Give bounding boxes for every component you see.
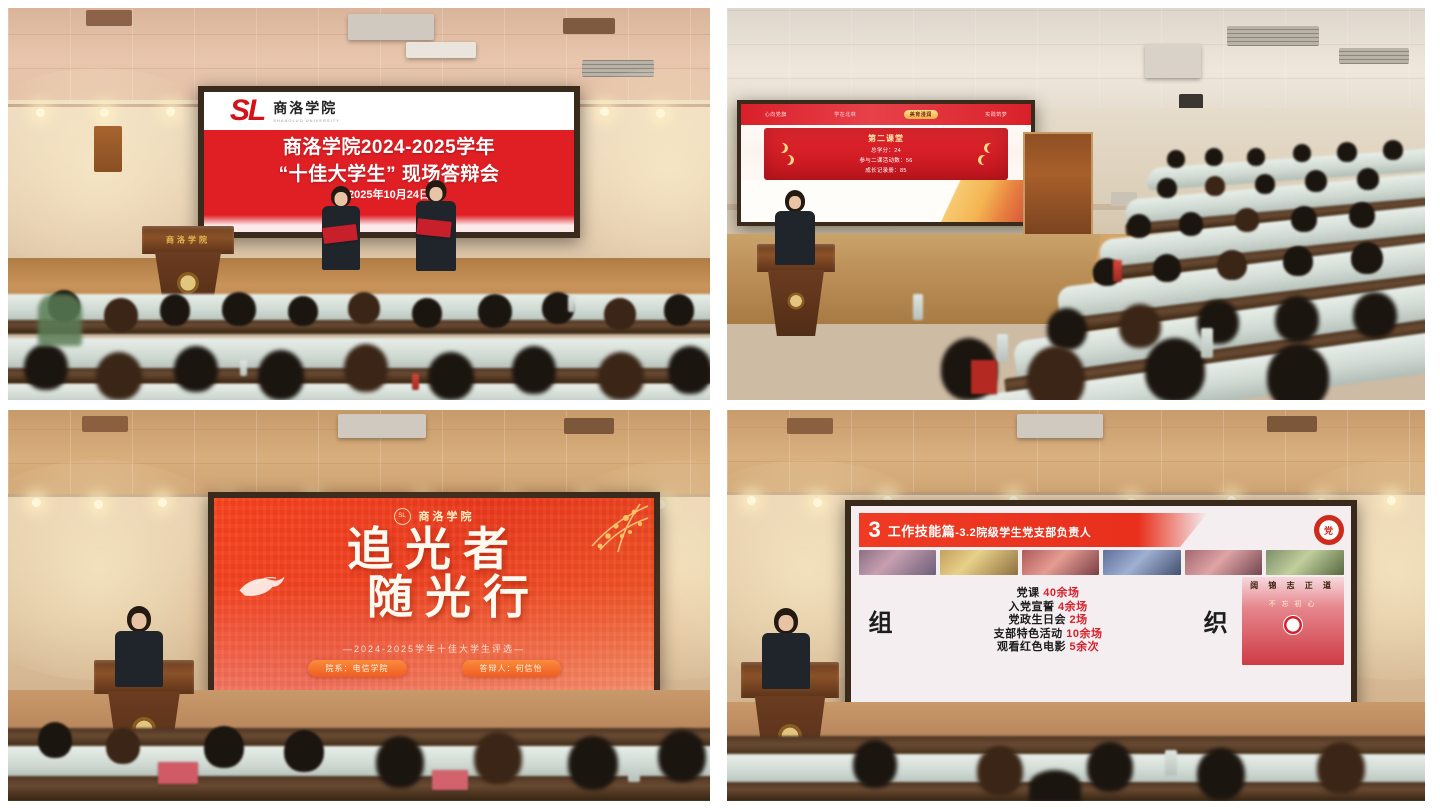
audience-head — [160, 294, 190, 326]
projector-1 — [348, 14, 434, 40]
speaker-at-podium — [771, 190, 819, 264]
led-screen-3: SL 商洛学院 追光者 随光行 —2024-2025学年十佳大学生评选— 院系：… — [208, 492, 660, 696]
audience-head — [1283, 246, 1313, 276]
audience-head — [598, 352, 644, 400]
decorative-fan — [921, 180, 1031, 222]
slide-header: SL 商洛学院 SHANGLUO UNIVERSITY — [204, 92, 574, 130]
stat-item-1: 入党宣誓 4余场 — [903, 601, 1194, 614]
badge-speaker: 答辩人：何信怡 — [462, 660, 561, 677]
nav-item-1: 学在北林 — [834, 111, 856, 118]
audience-head — [24, 344, 68, 390]
stat-label: 党课 — [1017, 587, 1040, 599]
card-line-1: 参与二课活动数：56 — [859, 156, 912, 164]
audience-head — [1087, 742, 1133, 792]
university-name-cn: 商洛学院 — [273, 100, 337, 116]
audience-head — [1293, 144, 1311, 162]
audience-head — [1153, 254, 1181, 282]
presenter-body — [762, 633, 810, 689]
stats-row: 组 党课 40余场 入党宣誓 4余场 党政生日会 2场 支部特色活动 10余场 … — [859, 577, 1344, 664]
speaker-right — [564, 418, 614, 434]
slide-subtitle: —2024-2025学年十佳大学生评选— — [214, 642, 654, 655]
ceiling-grid — [727, 8, 1425, 113]
audience-head — [1353, 292, 1397, 338]
panel-top-right: 心向党旗 学在北林 美育浸润 实践筑梦 第二课堂 总学分：24 参与二课活动数：… — [727, 8, 1425, 400]
stat-item-0: 党课 40余场 — [903, 587, 1194, 600]
stat-value: 40余场 — [1043, 587, 1079, 599]
ceiling — [727, 8, 1425, 113]
projector-2 — [406, 42, 476, 58]
university-name-en: SHANGLUO UNIVERSITY — [273, 118, 340, 123]
speaker-right — [1267, 416, 1317, 432]
audience-head — [38, 722, 72, 758]
podium-emblem-icon — [788, 293, 805, 310]
audience-head — [106, 728, 140, 764]
host-folder — [416, 218, 451, 237]
audience-head — [512, 346, 556, 394]
spot-light — [813, 498, 822, 507]
stat-value: 10余场 — [1066, 628, 1102, 640]
strip-photo — [1103, 550, 1181, 575]
audience-head — [1291, 206, 1317, 232]
side-banner-photo: 阔 锦 志 正 道 不 忘 初 心 — [1242, 577, 1344, 664]
hall-door — [1023, 132, 1093, 236]
audience-head — [1305, 170, 1327, 192]
card-title: 第二课堂 — [868, 133, 904, 144]
presenter-face — [779, 615, 794, 631]
water-bottle — [997, 334, 1008, 362]
section-title-text: 工作技能篇 — [888, 524, 956, 539]
water-bottle — [913, 294, 923, 320]
stat-value: 5余次 — [1070, 641, 1100, 653]
stat-item-4: 观看红色电影 5余次 — [903, 641, 1194, 654]
panel-bottom-right: 3 工作技能篇-3.2院级学生党支部负责人 党 — [727, 410, 1425, 801]
stat-label: 党政生日会 — [1008, 614, 1066, 626]
panel-bottom-left: SL 商洛学院 追光者 随光行 —2024-2025学年十佳大学生评选— 院系：… — [8, 410, 710, 801]
light-rail — [727, 492, 1425, 495]
audience-head — [412, 298, 442, 328]
university-name: 商洛学院 — [419, 508, 475, 524]
presenter-body — [115, 631, 163, 687]
audience-head — [258, 350, 304, 400]
audience-head — [853, 740, 897, 788]
host-face — [335, 192, 348, 206]
spot-light — [166, 107, 175, 116]
audience-head — [222, 292, 256, 326]
water-bottle — [628, 754, 640, 782]
audience-head — [1029, 770, 1081, 801]
nav-item-0: 心向党旗 — [765, 111, 787, 118]
audience-head — [344, 344, 388, 392]
badge-department: 院系：电信学院 — [308, 660, 407, 677]
strip-photo — [1022, 550, 1100, 575]
spot-light — [36, 108, 45, 117]
presenter-face — [132, 613, 147, 629]
slide-main-title: 追光者 随光行 — [214, 525, 654, 622]
podium-label: 商洛学院 — [142, 234, 234, 245]
speaker-left — [86, 10, 132, 26]
red-bag — [971, 360, 997, 394]
audience-head — [1205, 148, 1223, 166]
slide-date: 2025年10月24日 — [204, 186, 574, 202]
audience-head — [1205, 176, 1225, 196]
section-subtitle: -3.2院级学生党支部负责人 — [955, 527, 1091, 539]
strip-photo — [859, 550, 937, 575]
audience-head — [1337, 142, 1357, 162]
stat-label: 入党宣誓 — [1008, 601, 1054, 613]
projector — [338, 414, 426, 438]
audience-head — [1047, 308, 1087, 350]
stat-value: 4余场 — [1058, 601, 1088, 613]
speaker-right — [563, 18, 615, 34]
strip-photo — [1185, 550, 1263, 575]
audience-head — [668, 346, 710, 394]
spot-light — [158, 498, 167, 507]
red-folder — [158, 762, 198, 784]
audience-head — [1217, 250, 1247, 280]
wall-panel-left — [94, 126, 122, 172]
slide-section-header: 3 工作技能篇-3.2院级学生党支部负责人 党 — [859, 513, 1344, 548]
slide-title-line2: “十佳大学生” 现场答辩会 — [204, 162, 574, 188]
audience-head — [376, 736, 424, 788]
spot-light — [1387, 496, 1396, 505]
host-right — [412, 180, 460, 272]
host-face — [430, 187, 443, 201]
word-right: 织 — [1194, 603, 1238, 638]
audience-head — [428, 352, 474, 400]
card-line-2: 成长记录册：85 — [865, 166, 907, 174]
stat-item-3: 支部特色活动 10余场 — [903, 628, 1194, 641]
audience-head — [96, 352, 142, 400]
slide-badges: 院系：电信学院 答辩人：何信怡 — [214, 660, 654, 677]
audience-head — [1275, 296, 1319, 342]
audience-head — [474, 732, 522, 784]
nav-item-3: 实践筑梦 — [985, 111, 1007, 118]
spot-light — [32, 498, 41, 507]
audience-head — [1119, 304, 1161, 348]
presenter — [757, 608, 815, 686]
spot-light — [94, 500, 103, 509]
podium-emblem-icon — [177, 272, 199, 294]
audience-head — [284, 730, 324, 772]
audience-head — [658, 730, 706, 782]
speaker-left — [82, 416, 128, 432]
stat-item-2: 党政生日会 2场 — [903, 614, 1194, 627]
audience-head — [204, 726, 244, 768]
audience-head — [1357, 168, 1379, 190]
section-number: 3 — [869, 519, 881, 541]
audience-head — [1157, 178, 1177, 198]
red-folder — [432, 770, 468, 790]
speaker-face — [789, 196, 801, 209]
stats-list: 党课 40余场 入党宣誓 4余场 党政生日会 2场 支部特色活动 10余场 观看… — [903, 587, 1194, 654]
audience-head — [1145, 338, 1205, 400]
moon-icon — [982, 142, 995, 155]
audience-head — [604, 298, 636, 330]
side-banner-title: 阔 锦 志 正 道 — [1250, 580, 1335, 591]
audience-head — [664, 294, 694, 326]
slide-title: 商洛学院2024-2025学年 “十佳大学生” 现场答辩会 — [204, 135, 574, 187]
host-left — [318, 186, 364, 272]
audience-head — [1383, 140, 1403, 160]
led-screen-1: SL 商洛学院 SHANGLUO UNIVERSITY 商洛学院2024-202… — [198, 86, 580, 238]
slide-title-line1: 商洛学院2024-2025学年 — [204, 135, 574, 161]
second-classroom-card: 第二课堂 总学分：24 参与二课活动数：56 成长记录册：85 — [764, 128, 1008, 180]
slide-ten-best-students: SL 商洛学院 SHANGLUO UNIVERSITY 商洛学院2024-202… — [204, 92, 574, 232]
moon-icon — [783, 153, 796, 166]
audience-head — [1179, 212, 1203, 236]
audience-head — [478, 294, 512, 328]
spot-light — [100, 108, 109, 117]
ceiling-vent — [582, 60, 654, 77]
projector — [1145, 44, 1201, 78]
speaker-left — [787, 418, 833, 434]
sl-logo-icon: SL — [230, 96, 264, 126]
side-banner-seal-icon — [1283, 615, 1303, 635]
strip-photo — [1266, 550, 1344, 575]
card-line-0: 总学分：24 — [871, 146, 901, 154]
stat-label: 观看红色电影 — [997, 641, 1066, 653]
audience-head — [174, 346, 218, 392]
projector — [1017, 414, 1103, 438]
spot-light — [656, 109, 665, 118]
water-bottle — [1201, 328, 1213, 358]
audience-head — [288, 296, 318, 326]
water-bottle — [412, 374, 419, 390]
slide-footer-gradient — [204, 215, 574, 232]
side-banner-sub: 不 忘 初 心 — [1269, 599, 1317, 609]
presenter — [110, 606, 168, 684]
audience-head — [1255, 174, 1275, 194]
water-bottle — [1165, 750, 1177, 776]
audience-head — [1317, 742, 1365, 794]
audience-head — [1349, 202, 1375, 228]
audience-head — [1197, 748, 1245, 800]
stat-value: 2场 — [1070, 614, 1088, 626]
audience-head — [977, 746, 1023, 796]
spot-light — [600, 107, 609, 116]
slide-nav: 心向党旗 学在北林 美育浸润 实践筑梦 — [741, 104, 1031, 125]
audience-head — [104, 298, 138, 332]
title-line-2: 随光行 — [254, 573, 654, 621]
nav-item-2-active: 美育浸润 — [904, 110, 938, 119]
audience-head — [568, 736, 618, 790]
stat-label: 支部特色活动 — [994, 628, 1063, 640]
audience-head — [1351, 242, 1383, 274]
water-bottle — [1113, 260, 1122, 282]
podium-top: 商洛学院 — [142, 226, 234, 254]
water-bottle — [568, 296, 575, 312]
audience-head — [1167, 150, 1185, 168]
party-emblem-icon: 党 — [1314, 515, 1344, 545]
strip-photo — [940, 550, 1018, 575]
photo-strip-top — [859, 550, 1344, 575]
title-line-1: 追光者 — [214, 525, 654, 573]
water-bottle — [240, 360, 247, 376]
ceiling-vent — [1339, 48, 1409, 64]
section-bar: 3 工作技能篇-3.2院级学生党支部负责人 — [859, 513, 1208, 548]
audience-head — [1247, 148, 1265, 166]
spot-light — [747, 496, 756, 505]
word-left: 组 — [859, 603, 903, 638]
slide-light-chaser: SL 商洛学院 追光者 随光行 —2024-2025学年十佳大学生评选— 院系：… — [214, 498, 654, 690]
moon-icon — [777, 142, 790, 155]
audience-head — [348, 292, 380, 324]
ceiling-vent — [1227, 26, 1319, 46]
photo-collage: SL 商洛学院 SHANGLUO UNIVERSITY 商洛学院2024-202… — [0, 0, 1440, 809]
speaker-body — [775, 211, 815, 265]
panel-top-left: SL 商洛学院 SHANGLUO UNIVERSITY 商洛学院2024-202… — [8, 8, 710, 400]
section-title: 工作技能篇-3.2院级学生党支部负责人 — [888, 521, 1091, 540]
moon-icon — [976, 153, 989, 166]
audience-head — [1235, 208, 1259, 232]
audience-head — [1127, 214, 1151, 238]
person-green-jacket — [38, 294, 82, 346]
